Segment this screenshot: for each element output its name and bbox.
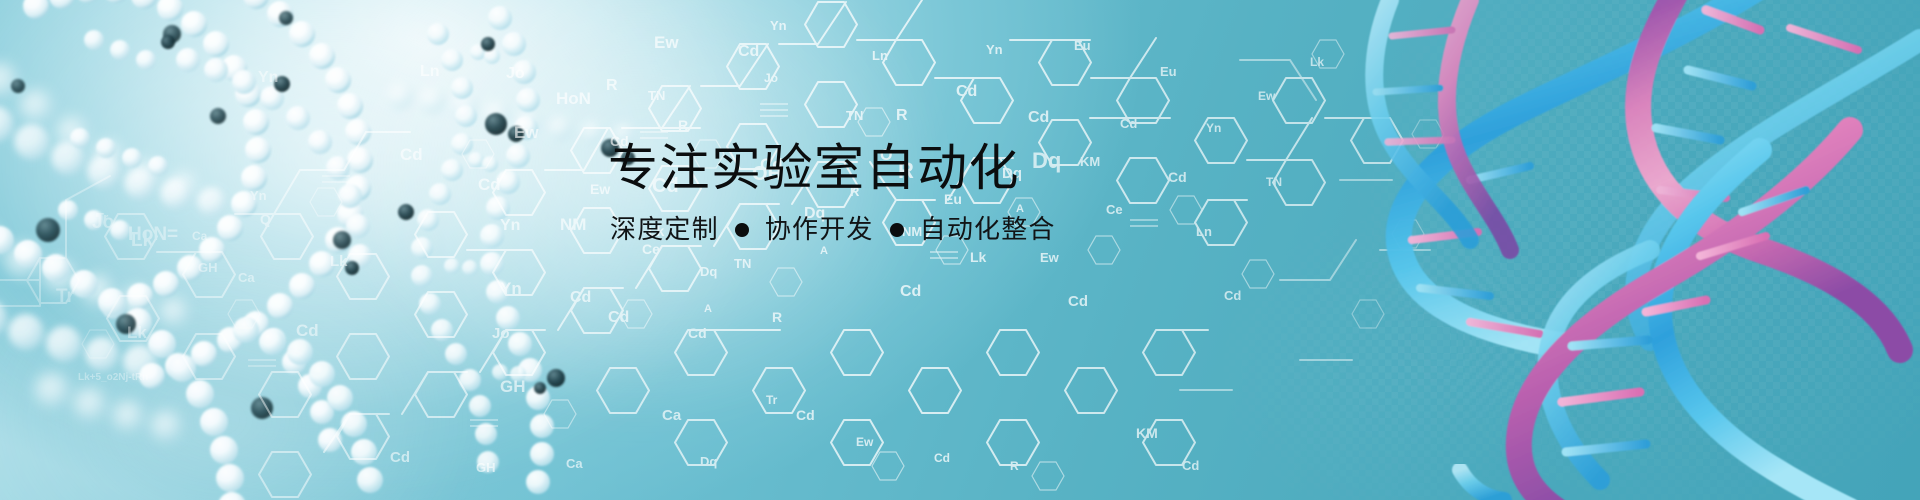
banner-subtitle: 深度定制 协作开发 自动化整合: [610, 214, 1328, 245]
subtitle-part-2: 协作开发: [765, 214, 874, 245]
subtitle-part-3: 自动化整合: [920, 214, 1056, 245]
subtitle-part-1: 深度定制: [610, 214, 719, 245]
bullet-separator-icon: [735, 223, 749, 237]
bullet-separator-icon: [890, 223, 904, 237]
hero-banner: .cl{fill:none;stroke:#ffffff;stroke-widt…: [0, 0, 1920, 500]
banner-text-block: 专注实验室自动化 深度定制 协作开发 自动化整合: [608, 140, 1328, 245]
page-title: 专注实验室自动化: [608, 140, 1328, 196]
dna-double-helix-right: [0, 0, 1920, 500]
